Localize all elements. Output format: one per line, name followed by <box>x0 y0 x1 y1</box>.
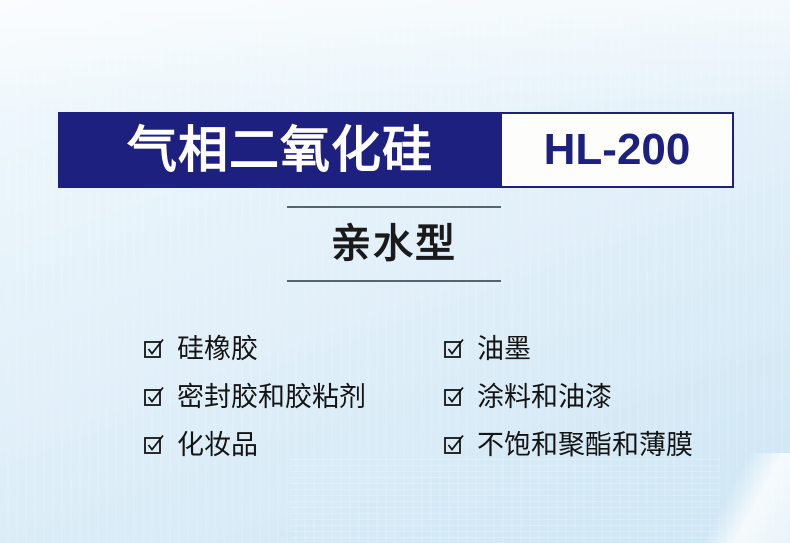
application-list-left-column: 硅橡胶 密封胶和胶粘剂 化妆品 <box>143 325 443 469</box>
top-sheen-overlay <box>0 0 790 120</box>
checkbox-checked-icon <box>143 386 165 408</box>
product-title: 气相二氧化硅 <box>127 125 433 175</box>
title-banner-blue-panel: 气相二氧化硅 <box>58 112 502 188</box>
list-item-label: 油墨 <box>477 336 531 363</box>
list-item-label: 不饱和聚酯和薄膜 <box>477 432 693 459</box>
list-item: 油墨 <box>443 325 743 373</box>
list-item: 不饱和聚酯和薄膜 <box>443 421 743 469</box>
subtitle-block: 亲水型 <box>287 206 501 282</box>
list-item: 密封胶和胶粘剂 <box>143 373 443 421</box>
product-banner: 气相二氧化硅 HL-200 亲水型 硅橡胶 <box>0 0 790 543</box>
application-list: 硅橡胶 密封胶和胶粘剂 化妆品 <box>143 325 743 469</box>
checkbox-checked-icon <box>143 338 165 360</box>
list-item-label: 化妆品 <box>177 432 258 459</box>
title-banner-white-panel: HL-200 <box>502 112 734 188</box>
checkbox-checked-icon <box>143 434 165 456</box>
product-code: HL-200 <box>544 128 691 172</box>
list-item: 硅橡胶 <box>143 325 443 373</box>
list-item-label: 硅橡胶 <box>177 336 258 363</box>
list-item: 涂料和油漆 <box>443 373 743 421</box>
list-item-label: 涂料和油漆 <box>477 384 612 411</box>
checkbox-checked-icon <box>443 434 465 456</box>
list-item: 化妆品 <box>143 421 443 469</box>
title-banner: 气相二氧化硅 HL-200 <box>58 112 734 188</box>
subtitle-divider-bottom <box>287 280 501 282</box>
list-item-label: 密封胶和胶粘剂 <box>177 384 366 411</box>
checkbox-checked-icon <box>443 386 465 408</box>
product-subtitle: 亲水型 <box>287 208 501 280</box>
application-list-right-column: 油墨 涂料和油漆 不饱和聚酯和薄膜 <box>443 325 743 469</box>
checkbox-checked-icon <box>443 338 465 360</box>
